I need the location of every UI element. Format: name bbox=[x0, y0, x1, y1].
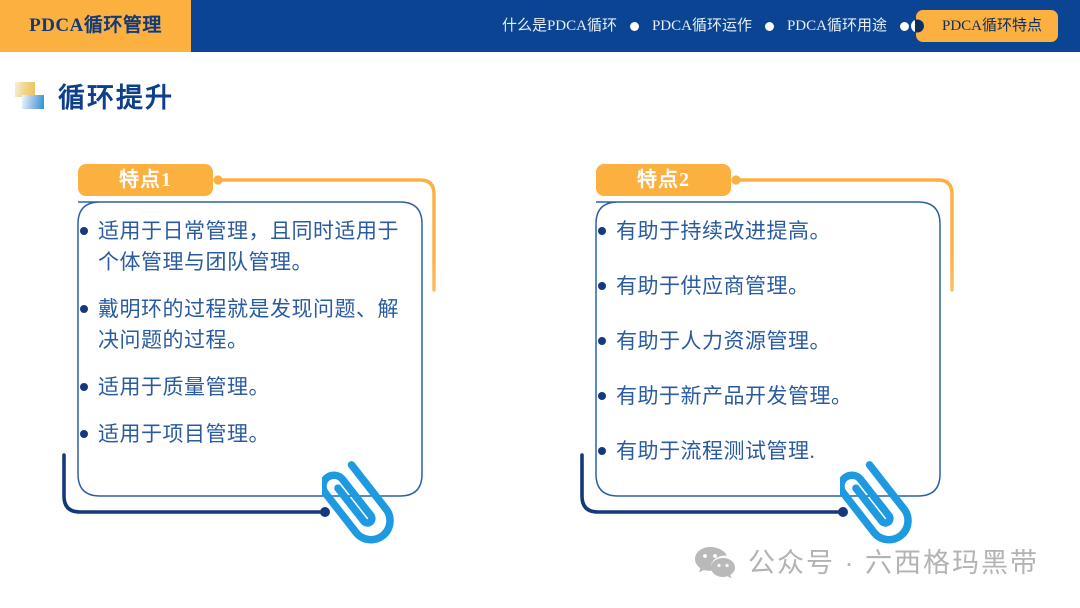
list-item: 适用于项目管理。 bbox=[80, 419, 410, 450]
list-item: 有助于持续改进提高。 bbox=[598, 216, 928, 247]
nav-item-pdca-features[interactable]: PDCA循环特点 bbox=[916, 10, 1058, 42]
top-header-bar: PDCA循环管理 什么是PDCA循环 PDCA循环运作 PDCA循环用途 PDC… bbox=[0, 0, 1080, 52]
nav-item-pdca-features-label: PDCA循环特点 bbox=[942, 18, 1042, 34]
nav-separator-dot-icon bbox=[900, 22, 909, 31]
nav-separator-dot-icon bbox=[630, 22, 639, 31]
paperclip-icon bbox=[840, 450, 926, 550]
list-item: 戴明环的过程就是发现问题、解决问题的过程。 bbox=[80, 294, 410, 356]
list-item-text: 有助于人力资源管理。 bbox=[616, 326, 831, 357]
bullet-dot-icon bbox=[80, 430, 88, 438]
section-heading-label: 循环提升 bbox=[58, 76, 174, 115]
nav-separator-dot-icon bbox=[765, 22, 774, 31]
bullet-dot-icon bbox=[598, 447, 606, 455]
bullet-dot-icon bbox=[598, 227, 606, 235]
list-item-text: 适用于质量管理。 bbox=[98, 372, 270, 403]
bullet-dot-icon bbox=[598, 337, 606, 345]
wechat-icon bbox=[694, 544, 736, 578]
bullet-dot-icon bbox=[80, 383, 88, 391]
card-1-bullet-list: 适用于日常管理，且同时适用于个体管理与团队管理。 戴明环的过程就是发现问题、解决… bbox=[80, 216, 410, 466]
paperclip-icon bbox=[322, 450, 408, 550]
list-item: 有助于供应商管理。 bbox=[598, 271, 928, 302]
list-item-text: 戴明环的过程就是发现问题、解决问题的过程。 bbox=[98, 294, 410, 356]
slide-canvas: PDCA循环管理 什么是PDCA循环 PDCA循环运作 PDCA循环用途 PDC… bbox=[0, 0, 1080, 608]
nav-item-what-is-pdca[interactable]: 什么是PDCA循环 bbox=[494, 0, 625, 52]
card-1-tab-label: 特点1 bbox=[78, 164, 213, 196]
list-item: 有助于人力资源管理。 bbox=[598, 326, 928, 357]
nav-item-pdca-operation[interactable]: PDCA循环运作 bbox=[644, 0, 760, 52]
bullet-dot-icon bbox=[598, 282, 606, 290]
list-item: 有助于新产品开发管理。 bbox=[598, 381, 928, 412]
list-item: 适用于日常管理，且同时适用于个体管理与团队管理。 bbox=[80, 216, 410, 278]
list-item-text: 适用于日常管理，且同时适用于个体管理与团队管理。 bbox=[98, 216, 410, 278]
page-title: PDCA循环管理 bbox=[0, 0, 191, 52]
list-item-text: 有助于持续改进提高。 bbox=[616, 216, 831, 247]
nav-item-pdca-usage[interactable]: PDCA循环用途 bbox=[779, 0, 895, 52]
squares-bullet-icon bbox=[14, 80, 48, 110]
bullet-dot-icon bbox=[80, 305, 88, 313]
list-item-text: 适用于项目管理。 bbox=[98, 419, 270, 450]
list-item-text: 有助于流程测试管理. bbox=[616, 436, 815, 467]
bullet-dot-icon bbox=[80, 227, 88, 235]
list-item: 适用于质量管理。 bbox=[80, 372, 410, 403]
active-nav-dot-icon bbox=[911, 20, 924, 33]
top-navigation: 什么是PDCA循环 PDCA循环运作 PDCA循环用途 PDCA循环特点 bbox=[494, 0, 1058, 52]
list-item-text: 有助于新产品开发管理。 bbox=[616, 381, 853, 412]
section-heading: 循环提升 bbox=[14, 72, 174, 118]
bullet-dot-icon bbox=[598, 392, 606, 400]
card-2-tab-label: 特点2 bbox=[596, 164, 731, 196]
list-item-text: 有助于供应商管理。 bbox=[616, 271, 810, 302]
